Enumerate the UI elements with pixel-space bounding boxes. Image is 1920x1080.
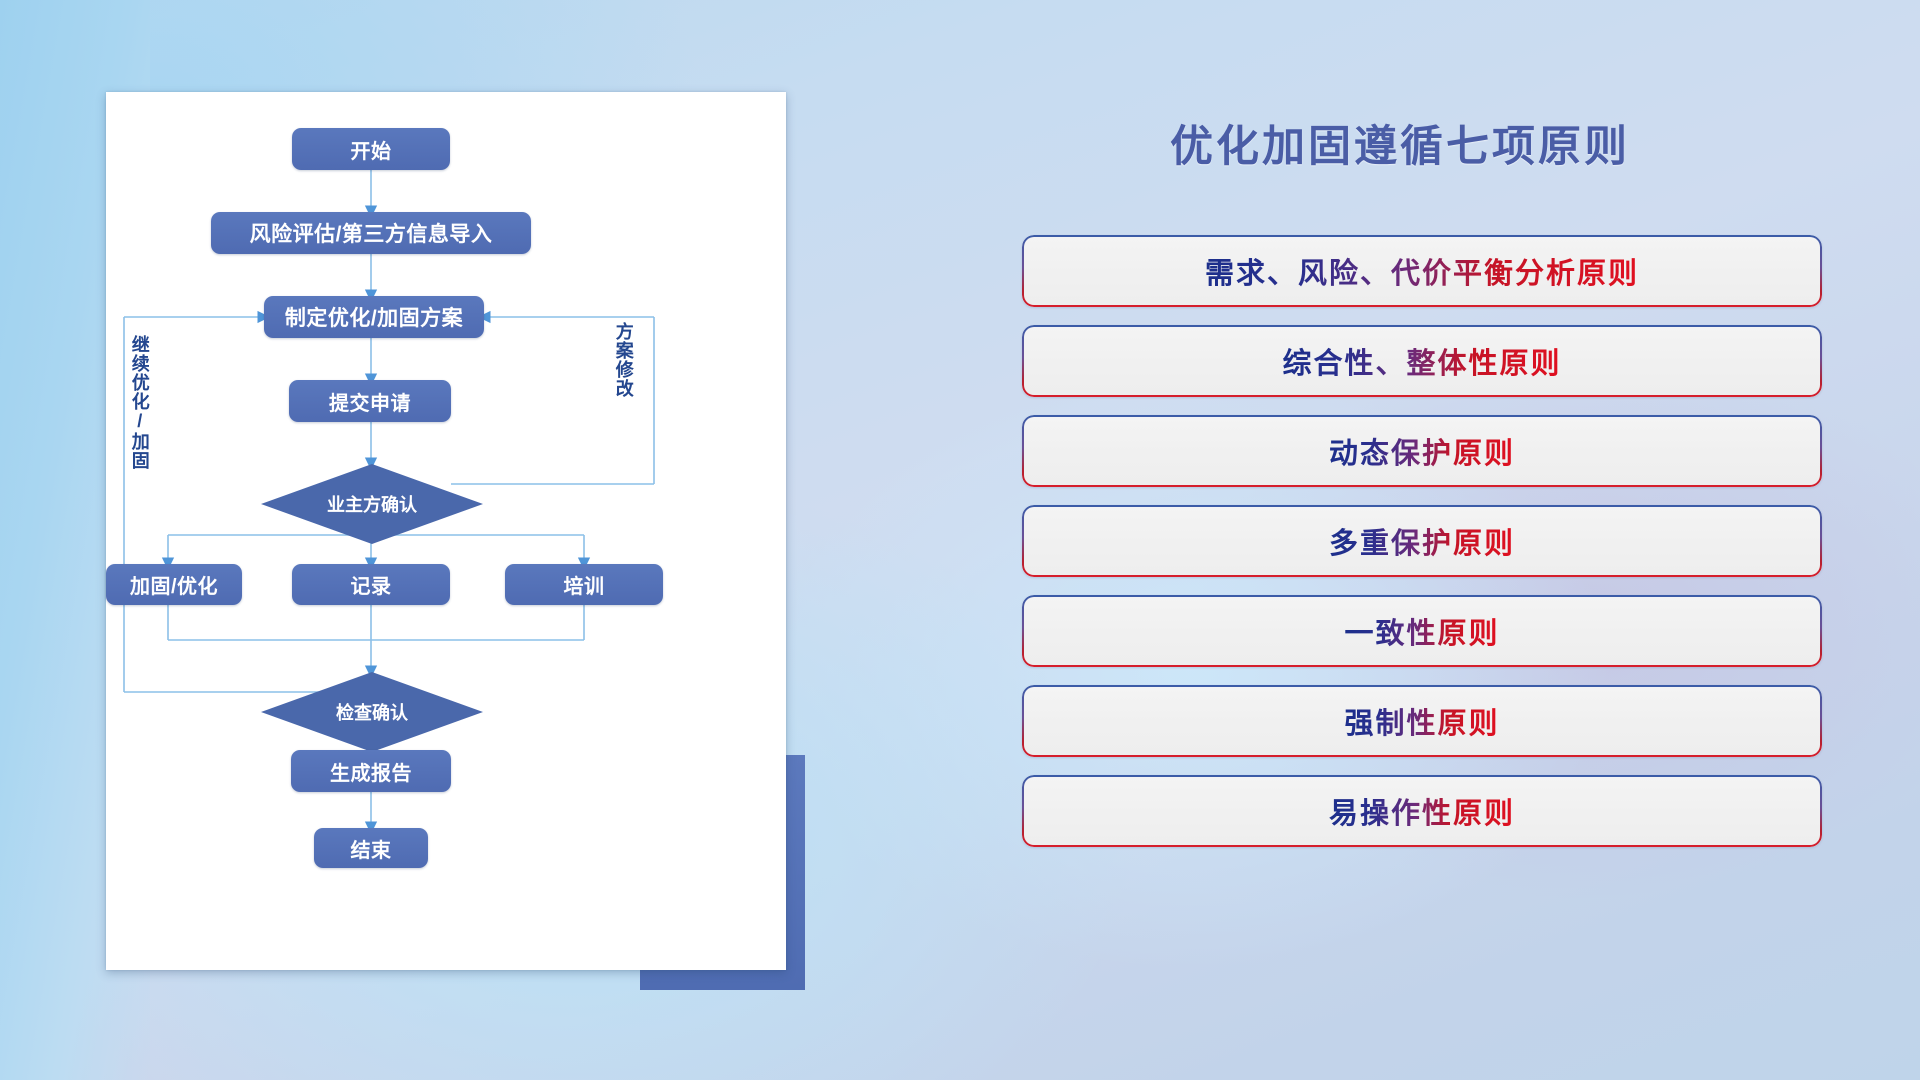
flow-node-submit[interactable]: 提交申请 bbox=[289, 380, 451, 422]
flow-node-report[interactable]: 生成报告 bbox=[291, 750, 451, 792]
principle-item-3-label: 动态保护原则 bbox=[1329, 430, 1515, 472]
flow-node-training-label: 培训 bbox=[564, 570, 605, 599]
principle-item-3[interactable]: 动态保护原则 bbox=[1022, 415, 1822, 487]
principles-list: 需求、风险、代价平衡分析原则 综合性、整体性原则 动态保护原则 多重保护原则 一… bbox=[1022, 235, 1822, 865]
flow-node-end[interactable]: 结束 bbox=[314, 828, 428, 868]
flow-node-record-label: 记录 bbox=[351, 570, 392, 599]
principle-item-5-label: 一致性原则 bbox=[1344, 610, 1499, 652]
principle-item-1[interactable]: 需求、风险、代价平衡分析原则 bbox=[1022, 235, 1822, 307]
principle-item-7[interactable]: 易操作性原则 bbox=[1022, 775, 1822, 847]
flow-node-record[interactable]: 记录 bbox=[292, 564, 450, 605]
flow-node-start-label: 开始 bbox=[351, 135, 392, 164]
principle-item-6[interactable]: 强制性原则 bbox=[1022, 685, 1822, 757]
flow-node-plan-label: 制定优化/加固方案 bbox=[285, 302, 463, 332]
flow-node-report-label: 生成报告 bbox=[330, 757, 412, 786]
flowchart-card: 开始 风险评估/第三方信息导入 制定优化/加固方案 提交申请 业主方确认 加固/… bbox=[106, 92, 786, 970]
flow-node-plan[interactable]: 制定优化/加固方案 bbox=[264, 296, 484, 338]
flow-edge-label-plan-revision: 方案修改 bbox=[614, 322, 633, 398]
principle-item-7-label: 易操作性原则 bbox=[1329, 790, 1515, 832]
flow-node-risk-assessment[interactable]: 风险评估/第三方信息导入 bbox=[211, 212, 531, 254]
principle-item-4-label: 多重保护原则 bbox=[1329, 520, 1515, 562]
flow-node-training[interactable]: 培训 bbox=[505, 564, 663, 605]
principle-item-5[interactable]: 一致性原则 bbox=[1022, 595, 1822, 667]
principles-panel-title: 优化加固遵循七项原则 bbox=[1020, 112, 1780, 174]
flow-node-start[interactable]: 开始 bbox=[292, 128, 450, 170]
flow-node-reinforce[interactable]: 加固/优化 bbox=[106, 564, 242, 605]
flow-node-risk-assessment-label: 风险评估/第三方信息导入 bbox=[250, 218, 493, 248]
flow-node-check-confirm-label: 检查确认 bbox=[336, 699, 408, 725]
flow-edge-label-continue-optimize: 继续优化/加固 bbox=[130, 335, 149, 470]
slide-canvas: 开始 风险评估/第三方信息导入 制定优化/加固方案 提交申请 业主方确认 加固/… bbox=[0, 0, 1920, 1080]
principle-item-4[interactable]: 多重保护原则 bbox=[1022, 505, 1822, 577]
principle-item-1-label: 需求、风险、代价平衡分析原则 bbox=[1205, 250, 1639, 292]
flow-node-submit-label: 提交申请 bbox=[329, 387, 411, 416]
principle-item-2-label: 综合性、整体性原则 bbox=[1282, 340, 1561, 382]
flow-node-owner-confirm-label: 业主方确认 bbox=[327, 491, 417, 517]
principle-item-2[interactable]: 综合性、整体性原则 bbox=[1022, 325, 1822, 397]
principle-item-6-label: 强制性原则 bbox=[1344, 700, 1499, 742]
flow-node-end-label: 结束 bbox=[351, 834, 392, 863]
flow-node-reinforce-label: 加固/优化 bbox=[130, 570, 218, 599]
